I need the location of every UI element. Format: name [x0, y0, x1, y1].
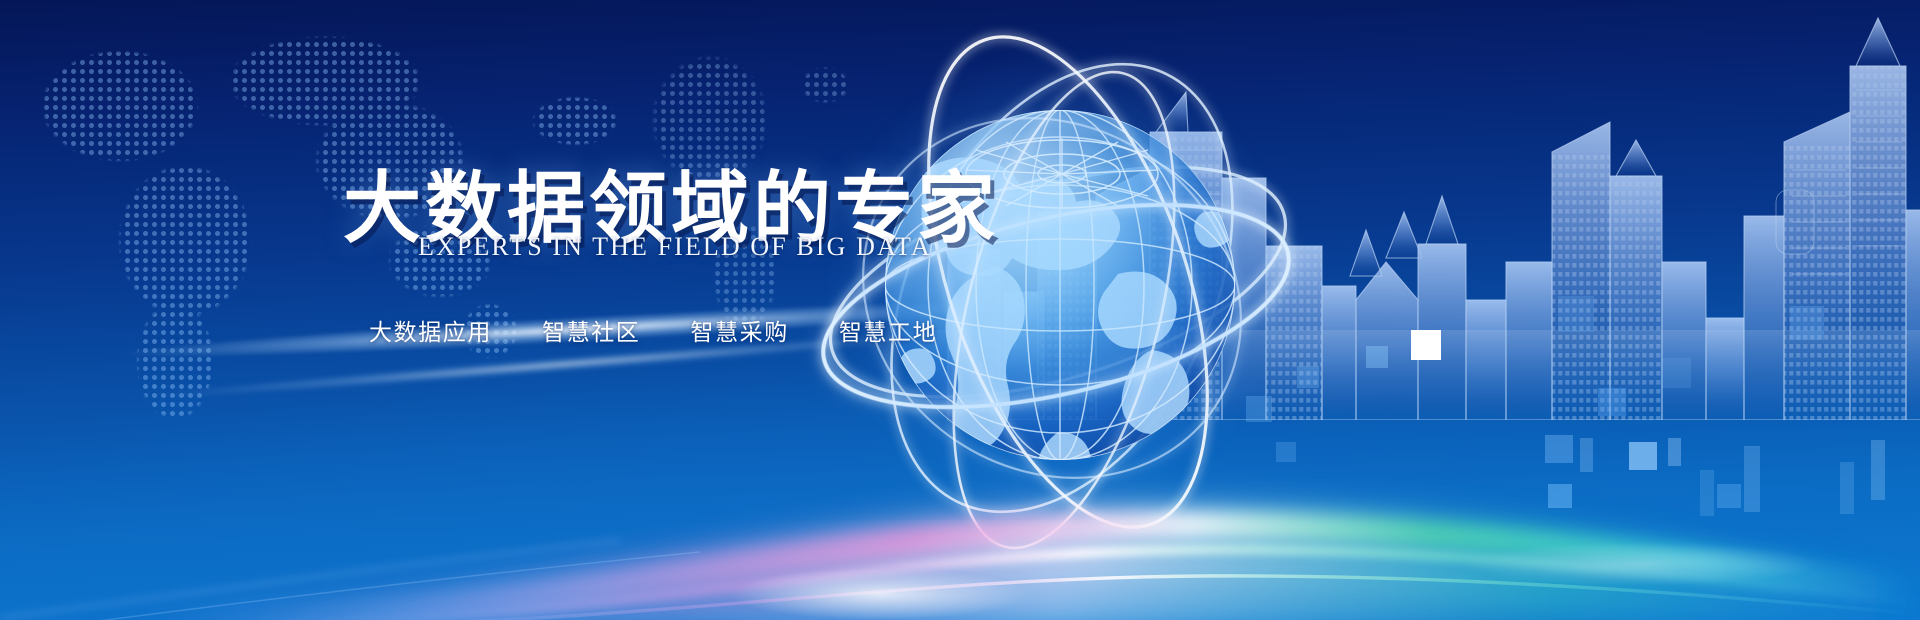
page-subtitle: EXPERTS IN THE FIELD OF BIG DATA	[418, 232, 932, 262]
hero-copy: 大数据领域的专家 EXPERTS IN THE FIELD OF BIG DAT…	[0, 0, 1920, 620]
tag-smart-procurement[interactable]: 智慧采购	[690, 313, 788, 347]
big-data-hero-banner: 大数据领域的专家 EXPERTS IN THE FIELD OF BIG DAT…	[0, 0, 1920, 620]
tag-big-data-application[interactable]: 大数据应用	[369, 313, 492, 347]
tag-smart-construction-site[interactable]: 智慧工地	[839, 313, 937, 347]
tag-smart-community[interactable]: 智慧社区	[542, 313, 640, 347]
tag-nav: 大数据应用 智慧社区 智慧采购 智慧工地	[369, 313, 937, 347]
